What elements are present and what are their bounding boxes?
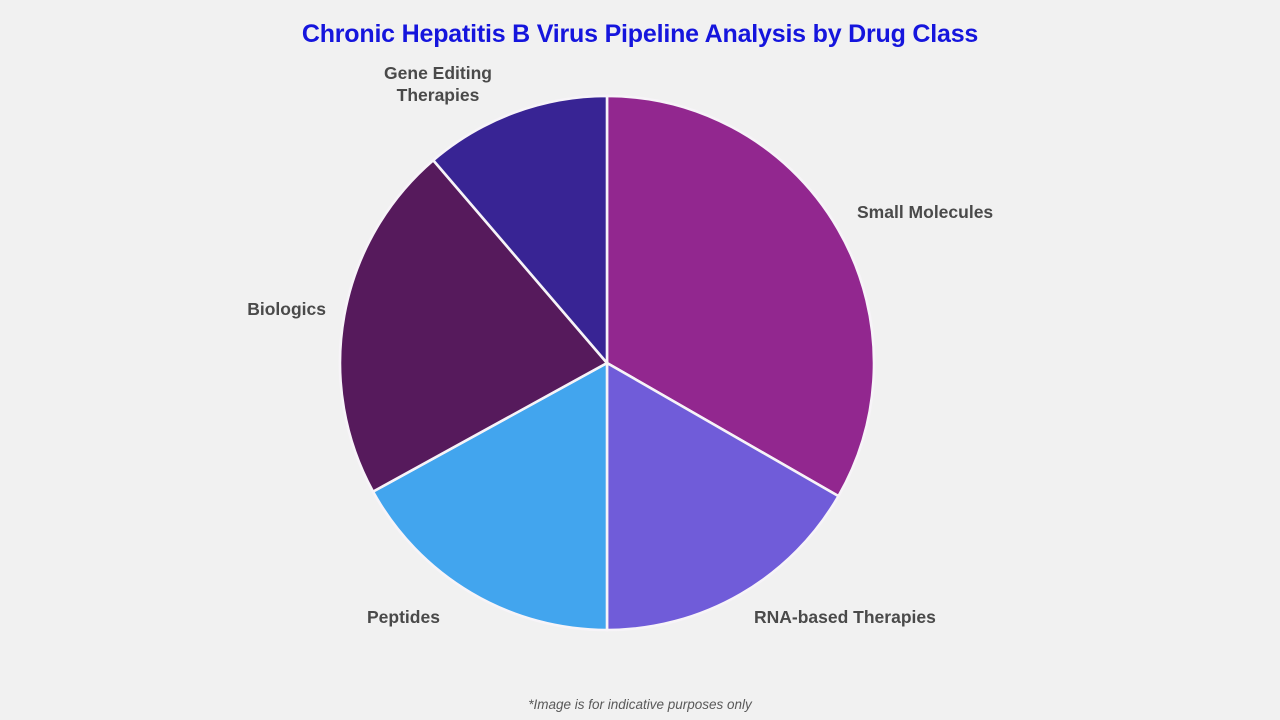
pie-label-biologics: Biologics: [247, 299, 326, 321]
pie-slice-group: [340, 96, 874, 630]
pie-plot-area: Small Molecules RNA-based Therapies Pept…: [0, 0, 1280, 720]
pie-label-peptides: Peptides: [367, 607, 440, 629]
pie-svg: [0, 0, 1280, 720]
pie-label-rna-based-therapies: RNA-based Therapies: [754, 607, 936, 629]
pie-label-gene-editing-therapies: Gene Editing Therapies: [352, 63, 524, 106]
chart-footnote: *Image is for indicative purposes only: [0, 697, 1280, 712]
pie-chart-figure: Chronic Hepatitis B Virus Pipeline Analy…: [0, 0, 1280, 720]
pie-label-small-molecules: Small Molecules: [857, 202, 993, 224]
